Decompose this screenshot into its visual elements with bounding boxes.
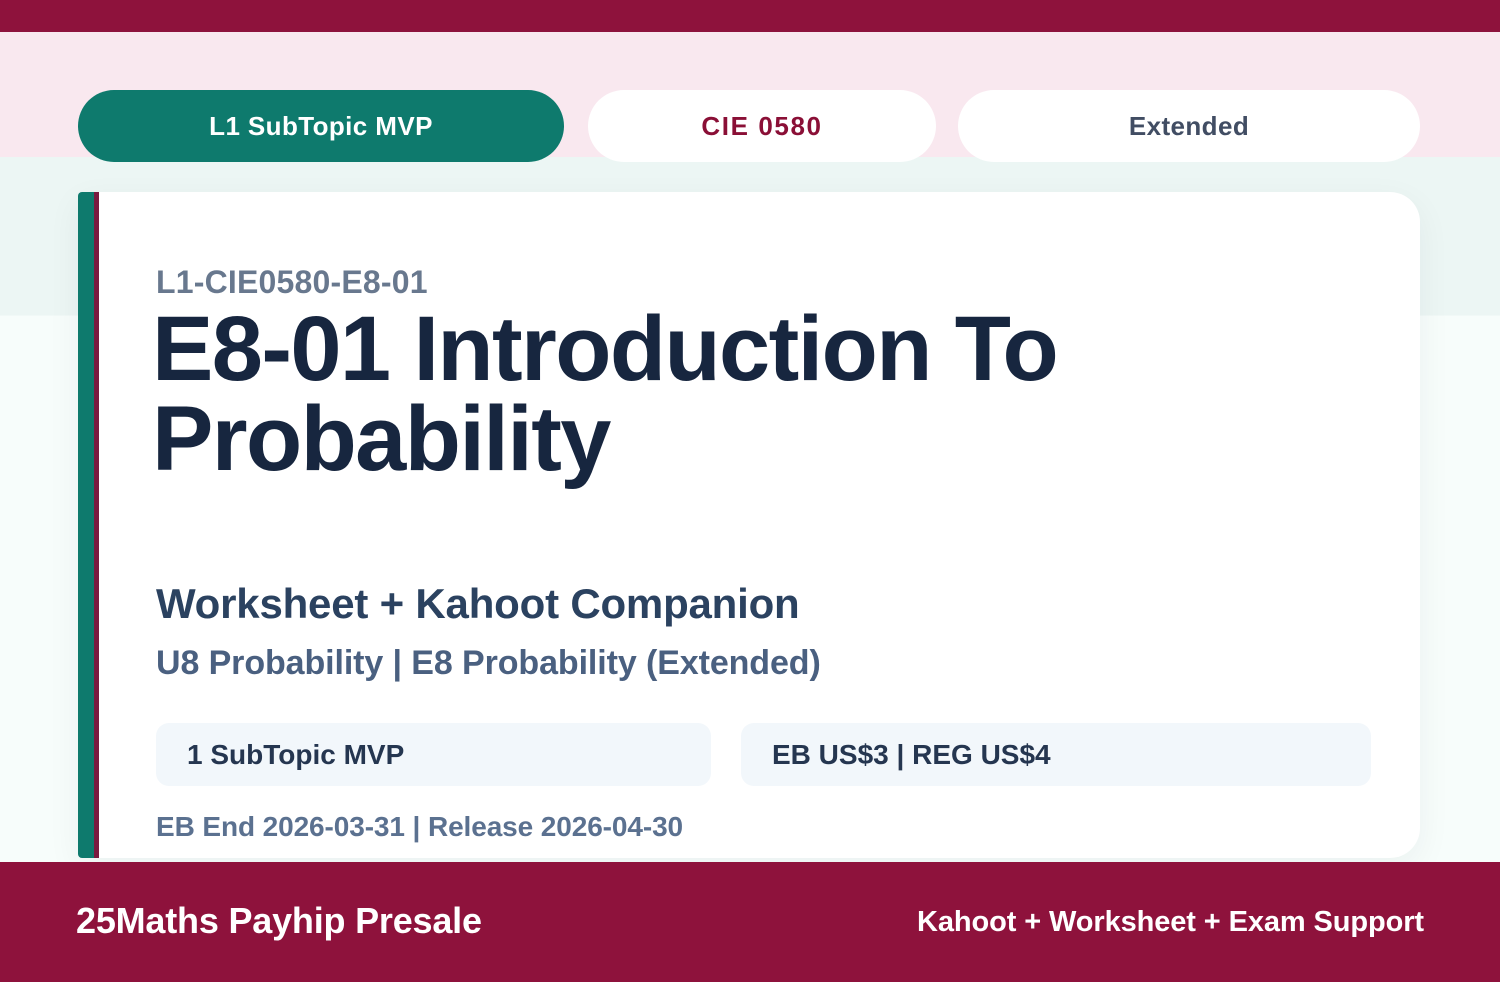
info-chip-row: 1 SubTopic MVP EB US$3 | REG US$4 [156,723,1386,786]
syllabus-code-pill[interactable]: CIE 0580 [588,90,936,162]
product-code: L1-CIE0580-E8-01 [156,264,428,301]
topic-meta: U8 Probability | E8 Probability (Extende… [156,644,821,683]
scope-chip: 1 SubTopic MVP [156,723,711,786]
tier-pill[interactable]: Extended [958,90,1420,162]
accent-bar-maroon [94,192,99,858]
accent-bar-teal [78,192,94,858]
product-card: L1-CIE0580-E8-01 E8-01 Introduction To P… [78,192,1420,858]
footer-brand: 25Maths Payhip Presale [76,900,482,942]
page-title: E8-01 Introduction To Probability [152,304,1352,484]
price-chip: EB US$3 | REG US$4 [741,723,1371,786]
card-content: L1-CIE0580-E8-01 E8-01 Introduction To P… [156,192,1420,858]
top-accent-rule [0,0,1500,32]
footer-tagline: Kahoot + Worksheet + Exam Support [917,906,1424,939]
presale-poster: L1 SubTopic MVP CIE 0580 Extended L1-CIE… [0,0,1500,982]
dates-line: EB End 2026-03-31 | Release 2026-04-30 [156,811,683,843]
level-pill[interactable]: L1 SubTopic MVP [78,90,564,162]
header-pill-band: L1 SubTopic MVP CIE 0580 Extended [0,32,1500,157]
footer-bar: 25Maths Payhip Presale Kahoot + Workshee… [0,862,1500,982]
product-subtitle: Worksheet + Kahoot Companion [156,580,800,628]
